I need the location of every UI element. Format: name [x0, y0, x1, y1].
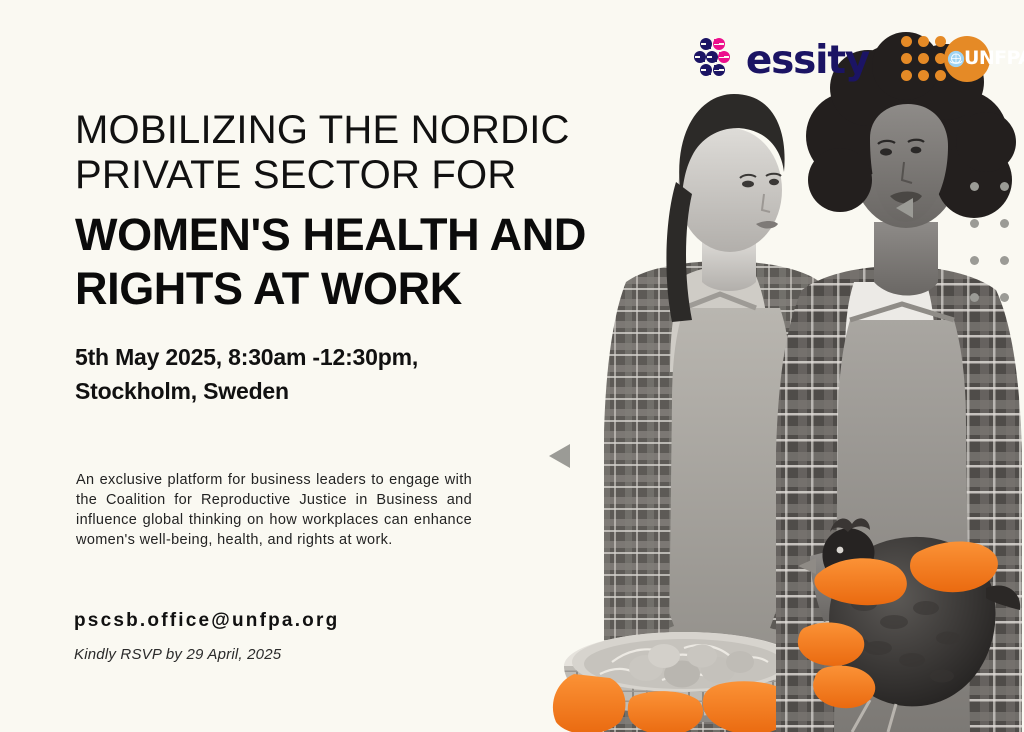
title-line-4: RIGHTS AT WORK: [75, 262, 695, 316]
event-poster: essity UNFPA: [0, 0, 1024, 732]
event-datetime: 5th May 2025, 8:30am -12:30pm,: [75, 340, 575, 374]
contact-email[interactable]: pscsb.office@unfpa.org: [74, 610, 339, 632]
dot-grid-decoration: [970, 182, 1024, 305]
event-description: An exclusive platform for business leade…: [76, 470, 472, 550]
unfpa-circle-icon: UNFPA: [944, 36, 990, 82]
essity-mark-icon: [693, 37, 737, 81]
title-line-2: PRIVATE SECTOR FOR: [75, 153, 695, 198]
title-line-3: WOMEN'S HEALTH AND: [75, 208, 695, 262]
page-title: MOBILIZING THE NORDIC PRIVATE SECTOR FOR…: [75, 108, 695, 316]
event-location: Stockholm, Sweden: [75, 374, 575, 408]
rsvp-note: Kindly RSVP by 29 April, 2025: [74, 646, 281, 663]
title-line-1: MOBILIZING THE NORDIC: [75, 108, 695, 153]
essity-logo[interactable]: essity: [693, 37, 869, 81]
triangle-decoration-large: [549, 444, 570, 468]
event-datetime-location: 5th May 2025, 8:30am -12:30pm, Stockholm…: [75, 340, 575, 408]
unfpa-logo[interactable]: UNFPA: [901, 36, 990, 82]
essity-wordmark: essity: [746, 41, 869, 80]
un-emblem-icon: [946, 49, 965, 68]
unfpa-wordmark: UNFPA: [964, 49, 1024, 68]
unfpa-dot-grid-icon: [901, 36, 948, 83]
logo-bar: essity UNFPA: [693, 36, 990, 82]
triangle-decoration-small: [896, 198, 913, 218]
